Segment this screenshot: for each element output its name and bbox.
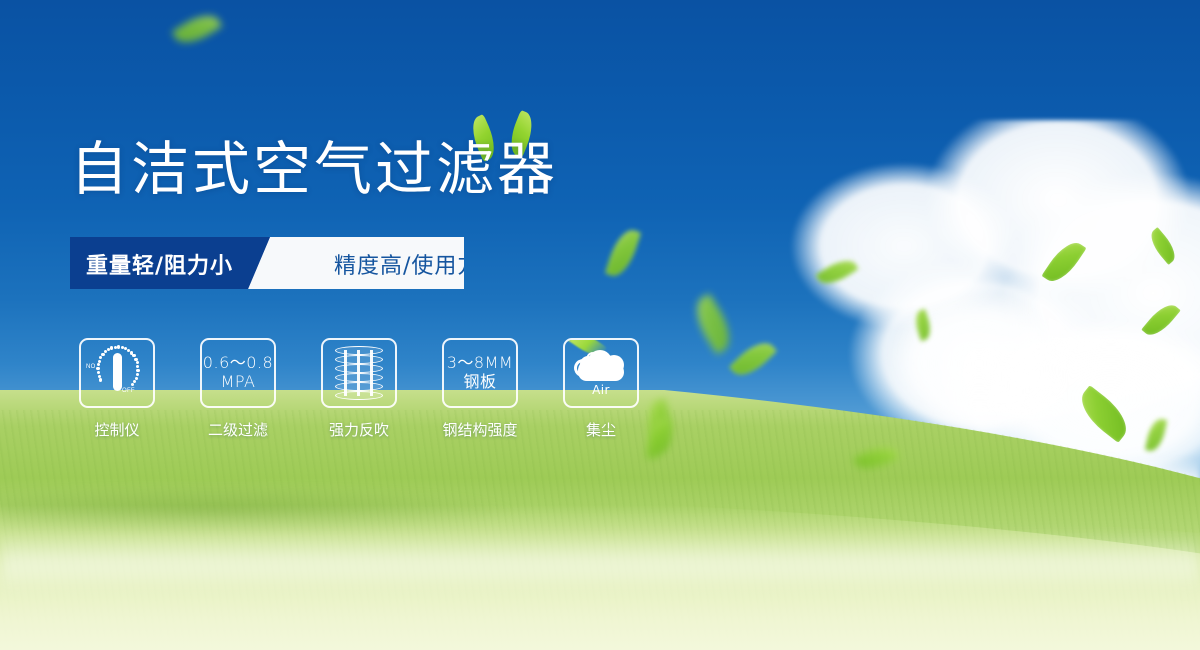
air-label: Air — [570, 383, 632, 397]
feature-icon-box — [321, 338, 397, 408]
steel-line-1: 3～8MM — [447, 354, 513, 373]
feature-item-secondary-filtration[interactable]: 0.6～0.8 MPA 二级过滤 — [199, 338, 277, 440]
coil-strut-icon — [357, 350, 360, 396]
air-cloud-icon: Air — [570, 345, 632, 401]
gauge-dot-icon — [97, 371, 100, 374]
feature-item-backflush[interactable]: 强力反吹 — [320, 338, 398, 440]
gauge-icon: NO OFF — [86, 344, 148, 402]
gauge-dot-icon — [97, 363, 100, 366]
subtitle-panel-light: 精度高/使用方便 — [248, 237, 464, 289]
feature-item-controller[interactable]: NO OFF 控制仪 — [78, 338, 156, 440]
steel-plate-text-icon: 3～8MM 钢板 — [447, 354, 513, 392]
feature-icon-box: Air — [563, 338, 639, 408]
feature-label: 控制仪 — [94, 419, 139, 440]
gauge-dot-icon — [136, 373, 139, 376]
gauge-off-label: OFF — [122, 388, 135, 394]
grass-highlight — [0, 532, 1200, 592]
gauge-dot-icon — [101, 353, 104, 356]
coil-strut-icon — [344, 350, 347, 396]
gauge-dot-icon — [110, 346, 113, 349]
gauge-dot-icon — [136, 369, 139, 372]
subtitle-panel-dark: 重量轻/阻力小 — [70, 237, 270, 289]
steel-line-2: 钢板 — [447, 373, 513, 392]
feature-list: NO OFF 控制仪 0.6～0.8 MPA 二级过滤 — [78, 338, 640, 440]
gauge-dot-icon — [96, 367, 99, 370]
feature-item-steel-strength[interactable]: 3～8MM 钢板 钢结构强度 — [441, 338, 519, 440]
gauge-dot-icon — [98, 375, 101, 378]
gauge-needle-icon — [113, 353, 122, 391]
coil-strut-icon — [370, 350, 373, 396]
feature-item-dust-collection[interactable]: Air 集尘 — [562, 338, 640, 440]
pressure-text-icon: 0.6～0.8 MPA — [203, 354, 273, 392]
gauge-dot-icon — [99, 378, 102, 381]
gauge-dot-icon — [136, 361, 139, 364]
feature-icon-box: 0.6～0.8 MPA — [200, 338, 276, 408]
feature-label: 集尘 — [586, 419, 616, 440]
subtitle-text-left: 重量轻/阻力小 — [86, 248, 233, 280]
feature-label: 二级过滤 — [208, 419, 268, 440]
gauge-on-label: NO — [86, 364, 96, 370]
page-title: 自洁式空气过滤器 — [70, 140, 558, 198]
gauge-dot-icon — [131, 383, 134, 386]
gauge-dot-icon — [136, 365, 139, 368]
subtitle-bar: 重量轻/阻力小 精度高/使用方便 — [70, 237, 464, 289]
pressure-line-1: 0.6～0.8 — [203, 354, 273, 373]
feature-label: 强力反吹 — [329, 419, 389, 440]
gauge-dot-icon — [99, 356, 102, 359]
feature-icon-box: NO OFF — [79, 338, 155, 408]
feature-icon-box: 3～8MM 钢板 — [442, 338, 518, 408]
pressure-line-2: MPA — [203, 373, 273, 392]
gauge-dot-icon — [117, 345, 120, 348]
feature-label: 钢结构强度 — [442, 419, 517, 440]
filter-coil-icon — [335, 346, 383, 400]
product-hero-banner: 自洁式空气过滤器 重量轻/阻力小 精度高/使用方便 NO OFF 控制仪 — [0, 0, 1200, 650]
gauge-dot-icon — [98, 360, 101, 363]
gauge-dot-icon — [132, 354, 135, 357]
